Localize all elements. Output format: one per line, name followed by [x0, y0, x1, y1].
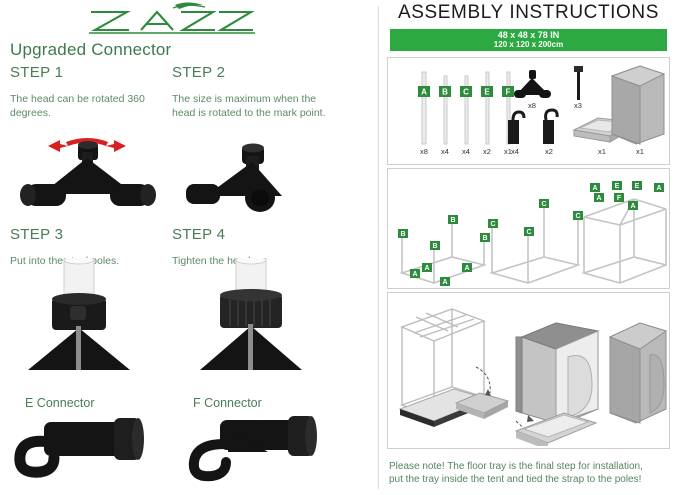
svg-text:A: A [442, 279, 447, 286]
step-4-title: STEP 4 [172, 226, 327, 243]
f-connector-label: F Connector [193, 396, 262, 410]
svg-text:B: B [432, 243, 437, 250]
footer-note-line-1: Please note! The floor tray is the final… [389, 460, 674, 473]
footer-note: Please note! The floor tray is the final… [389, 460, 674, 486]
svg-text:B: B [400, 231, 405, 238]
right-panel: ASSEMBLY INSTRUCTIONS 48 x 48 x 78 IN 12… [378, 0, 679, 495]
zazzy-logo [83, 2, 258, 36]
frame-stages-box: BBBB AAAA CCCC AEEA AFA [387, 168, 670, 289]
svg-text:x4: x4 [441, 147, 449, 156]
f-connector-hook-icon [180, 412, 330, 482]
svg-text:C: C [541, 201, 546, 208]
svg-text:A: A [630, 203, 635, 210]
svg-text:A: A [592, 185, 597, 192]
step-2: STEP 2 The size is maximum when the head… [172, 64, 337, 120]
assembly-title: ASSEMBLY INSTRUCTIONS [378, 2, 679, 24]
step-1-text: The head can be rotated 360 degrees. [10, 92, 160, 120]
svg-text:A: A [464, 265, 469, 272]
svg-text:C: C [463, 88, 469, 97]
svg-text:x2: x2 [545, 147, 553, 156]
section-title: Upgraded Connector [10, 40, 171, 60]
svg-text:B: B [450, 217, 455, 224]
svg-text:x4: x4 [511, 147, 519, 156]
assembly-instruction-sheet: Upgraded Connector STEP 1 The head can b… [0, 0, 679, 495]
frame-stages-diagram: BBBB AAAA CCCC AEEA AFA [388, 169, 667, 286]
connector-tightened-icon [190, 258, 330, 378]
final-stages-diagram [388, 293, 667, 446]
svg-text:C: C [490, 221, 495, 228]
svg-text:A: A [656, 185, 661, 192]
svg-text:A: A [424, 265, 429, 272]
parts-list-box: AB CEF x8x4 x4x2x1 x8 [387, 57, 670, 165]
step-1: STEP 1 The head can be rotated 360 degre… [10, 64, 160, 120]
parts-list-diagram: AB CEF x8x4 x4x2x1 x8 [388, 58, 667, 162]
svg-text:x4: x4 [462, 147, 470, 156]
footer-note-line-2: put the tray inside the tent and tied th… [389, 473, 674, 486]
step-2-text: The size is maximum when the head is rot… [172, 92, 337, 120]
step-2-title: STEP 2 [172, 64, 337, 81]
svg-text:x8: x8 [528, 101, 536, 110]
svg-text:A: A [412, 271, 417, 278]
svg-text:E: E [615, 183, 620, 190]
svg-text:F: F [506, 88, 511, 97]
size-banner: 48 x 48 x 78 IN 120 x 120 x 200cm [390, 29, 667, 51]
left-panel: Upgraded Connector STEP 1 The head can b… [0, 0, 378, 495]
svg-text:C: C [526, 229, 531, 236]
three-way-connector-rotating-icon [8, 122, 168, 217]
svg-text:A: A [421, 88, 427, 97]
step-3-title: STEP 3 [10, 226, 165, 243]
svg-text:x8: x8 [420, 147, 428, 156]
svg-text:x1: x1 [636, 147, 644, 156]
connector-with-pole-icon [18, 258, 158, 378]
e-connector-hook-icon [10, 412, 160, 482]
final-stages-box [387, 292, 670, 449]
step-1-title: STEP 1 [10, 64, 160, 81]
svg-text:E: E [635, 183, 640, 190]
size-metric: 120 x 120 x 200cm [390, 40, 667, 50]
size-imperial: 48 x 48 x 78 IN [390, 30, 667, 40]
svg-text:x3: x3 [574, 101, 582, 110]
three-way-connector-rotated-icon [186, 122, 336, 217]
svg-text:C: C [575, 213, 580, 220]
e-connector-label: E Connector [25, 396, 94, 410]
svg-text:x1: x1 [598, 147, 606, 156]
svg-text:F: F [617, 195, 622, 202]
svg-text:A: A [596, 195, 601, 202]
svg-text:E: E [484, 88, 490, 97]
svg-text:B: B [442, 88, 448, 97]
svg-text:B: B [482, 235, 487, 242]
svg-text:x2: x2 [483, 147, 491, 156]
